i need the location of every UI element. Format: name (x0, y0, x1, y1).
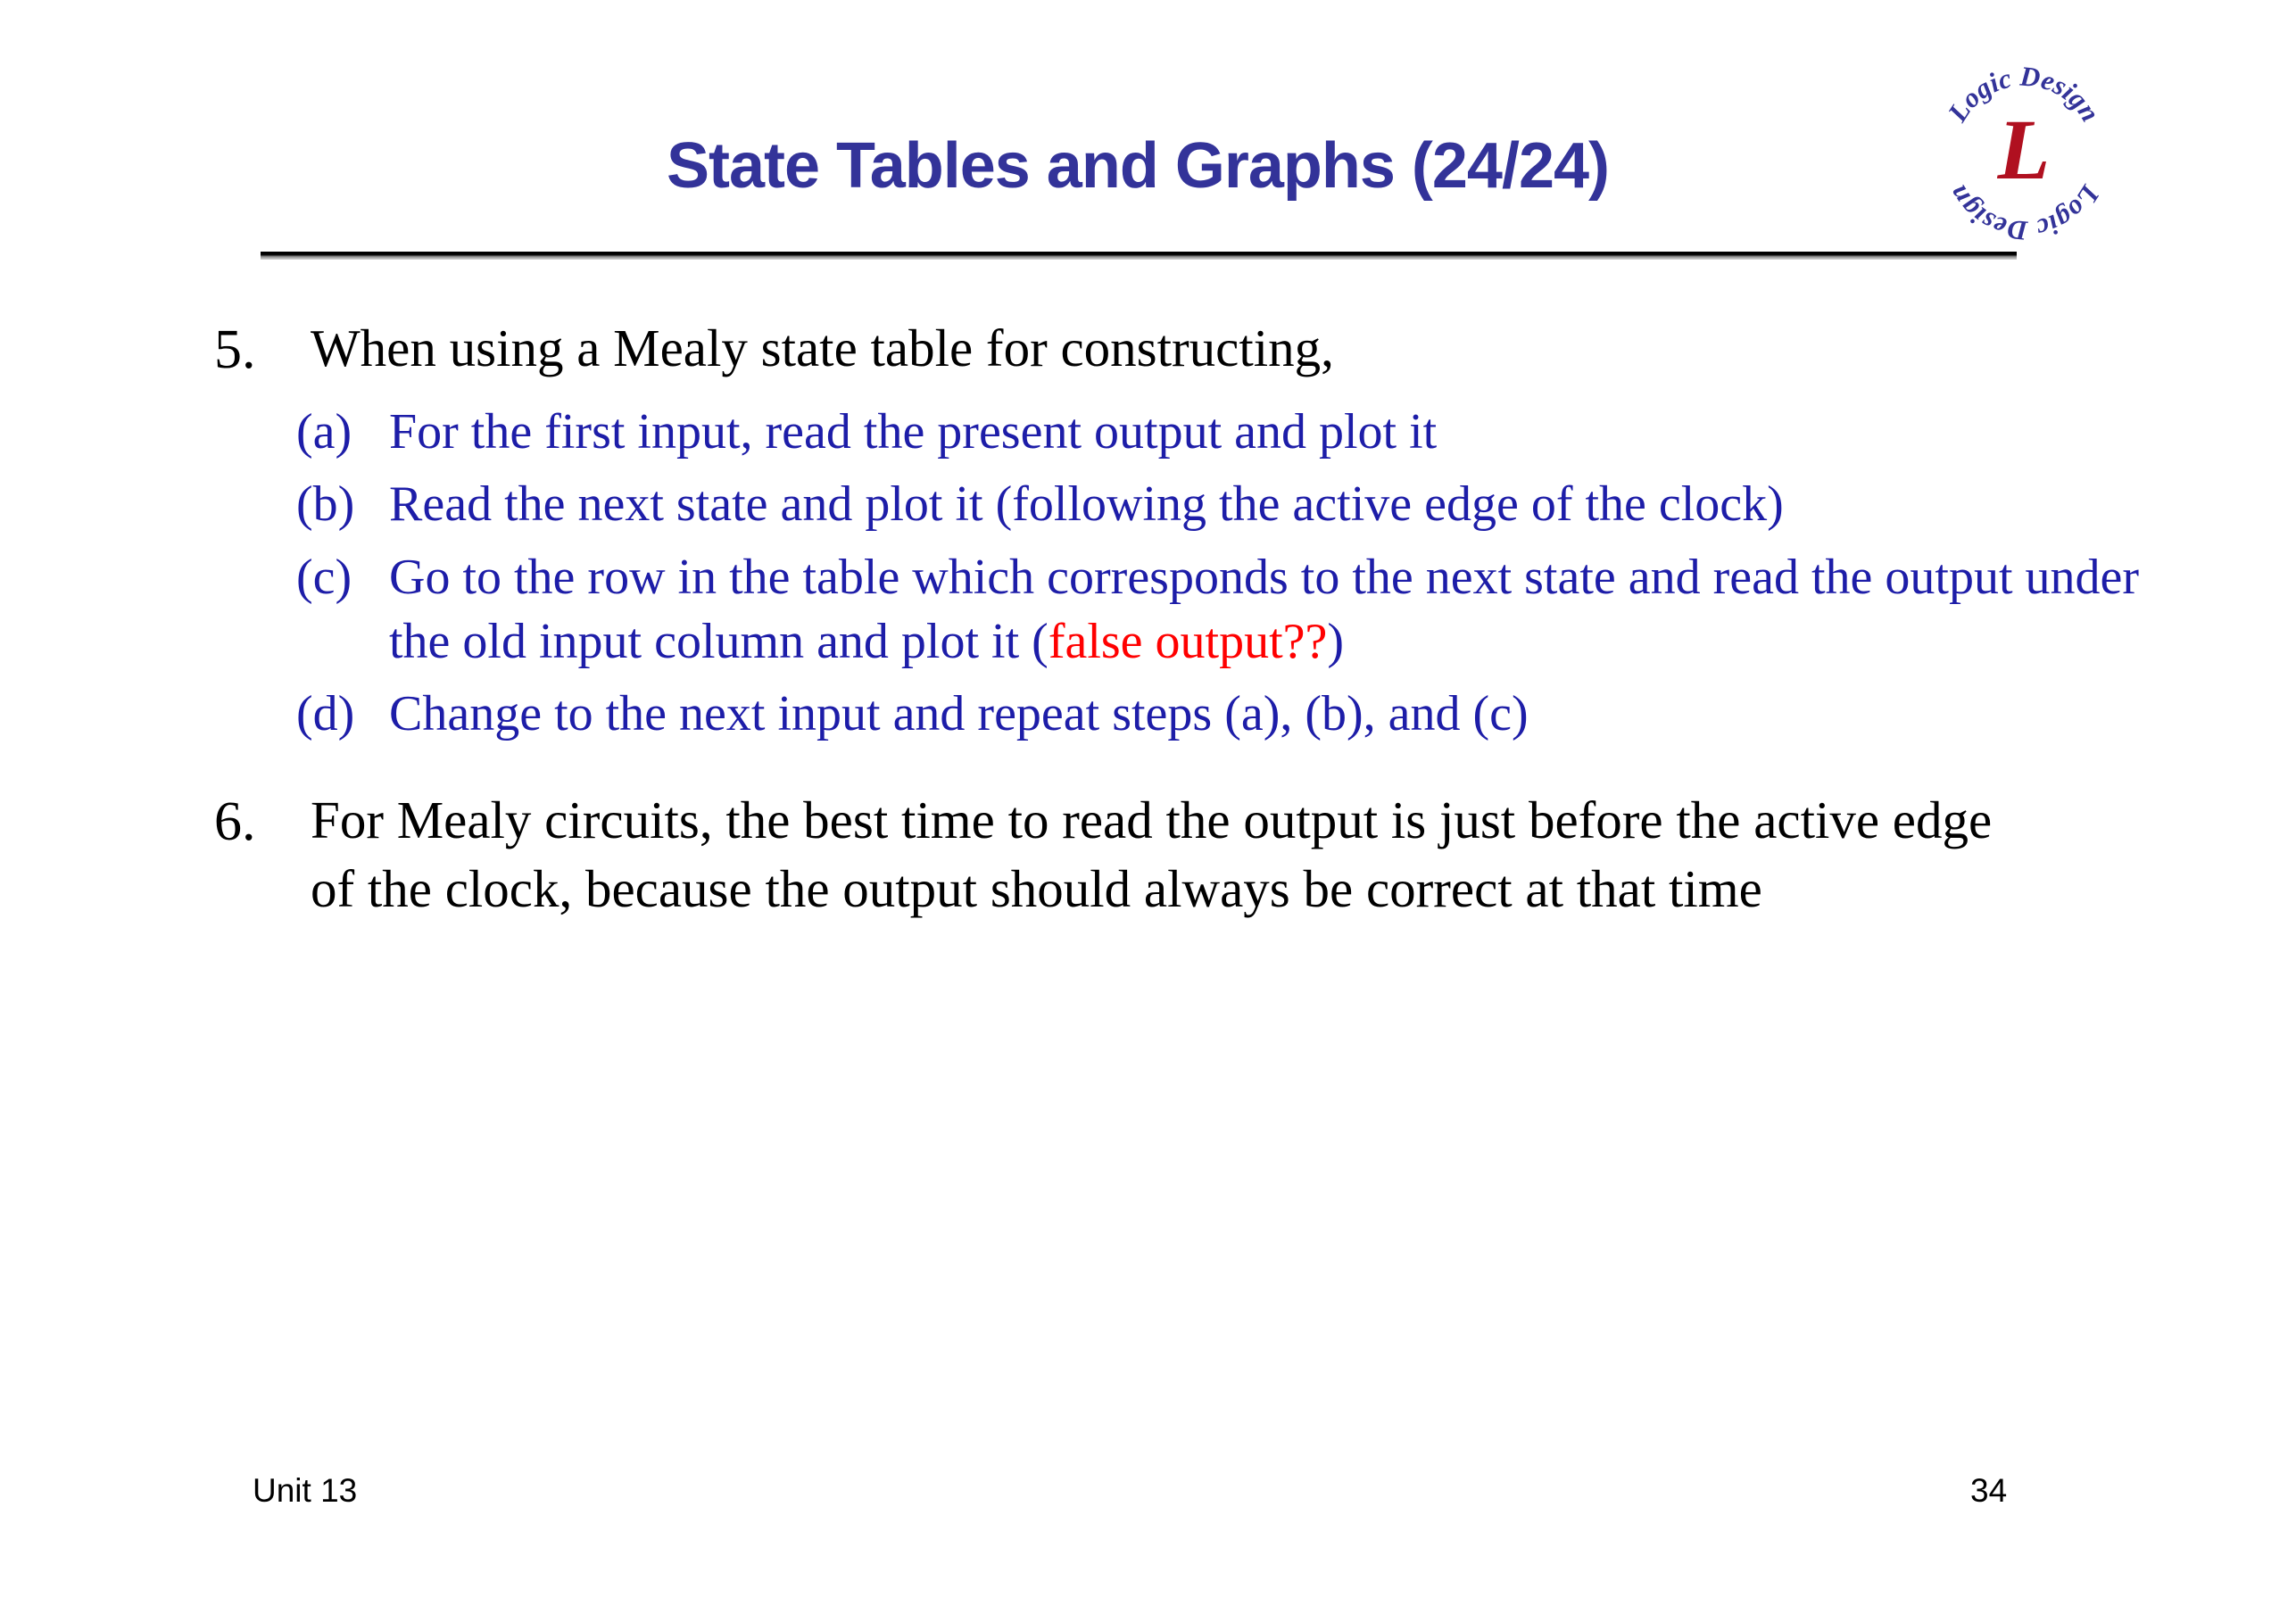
slide-canvas: State Tables and Graphs (24/24) Logic De… (0, 0, 2296, 1623)
list-item-5: 5. When using a Mealy state table for co… (214, 314, 2177, 386)
list-item-5c-highlight: false output?? (1049, 614, 1328, 669)
footer-unit-label: Unit 13 (253, 1472, 357, 1510)
slide-title-text: State Tables and Graphs (24/24) (259, 134, 2017, 198)
list-item-5d: (d) Change to the next input and repeat … (214, 683, 2177, 747)
list-item-5b-text: Read the next state and plot it (followi… (389, 473, 2177, 537)
list-item-5b: (b) Read the next state and plot it (fol… (214, 473, 2177, 537)
sublist-5: (a) For the first input, read the presen… (214, 401, 2177, 747)
list-item-6-text: For Mealy circuits, the best time to rea… (311, 786, 2046, 923)
list-item-5d-text: Change to the next input and repeat step… (389, 683, 2177, 747)
slide-body: 5. When using a Mealy state table for co… (214, 314, 2177, 926)
list-item-5a-number: (a) (296, 401, 389, 465)
list-item-5-text: When using a Mealy state table for const… (311, 314, 2177, 383)
list-item-5c-number: (c) (296, 546, 389, 610)
list-item-6-number: 6. (214, 786, 311, 858)
list-item-5-number: 5. (214, 314, 311, 386)
title-divider (261, 252, 2017, 260)
page-title: State Tables and Graphs (24/24) (259, 134, 2017, 198)
list-item-6: 6. For Mealy circuits, the best time to … (214, 786, 2177, 923)
list-item-5c-text: Go to the row in the table which corresp… (389, 546, 2177, 674)
list-item-5a-text: For the first input, read the present ou… (389, 401, 2177, 465)
list-item-5b-number: (b) (296, 473, 389, 537)
footer-page-number: 34 (1970, 1472, 2007, 1510)
logic-design-logo: Logic Design Logic Design L (1935, 64, 2113, 243)
list-item-5c-text-tail: ) (1327, 614, 1344, 669)
svg-text:L: L (1997, 102, 2051, 197)
list-item-5c: (c) Go to the row in the table which cor… (214, 546, 2177, 674)
list-item-5d-number: (d) (296, 683, 389, 747)
list-item-5a: (a) For the first input, read the presen… (214, 401, 2177, 465)
